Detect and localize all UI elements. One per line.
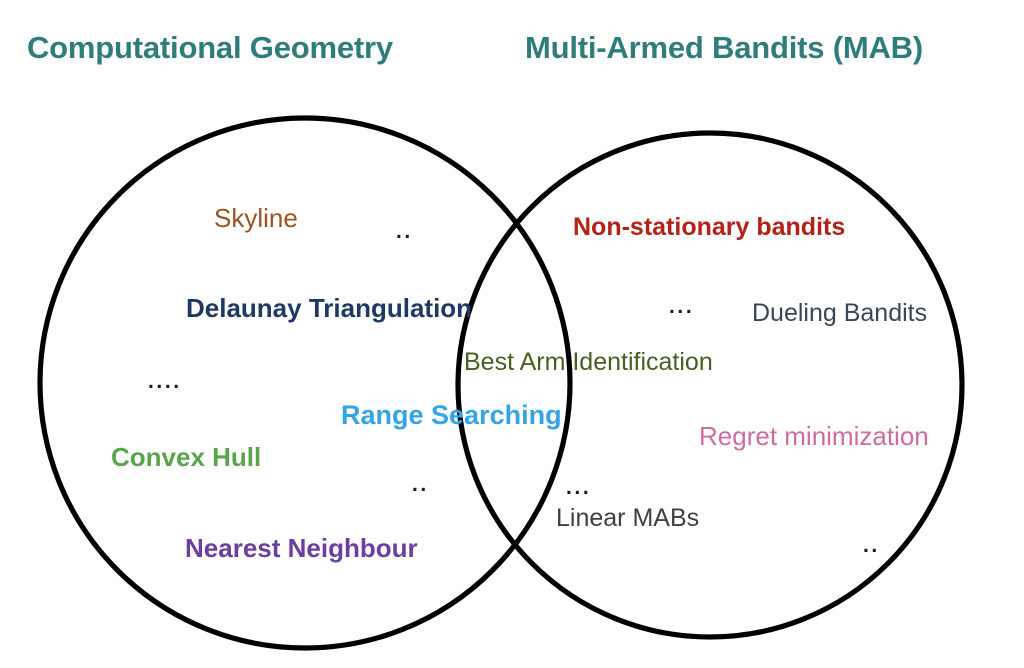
venn-circles [0,0,1024,668]
term-label: Range Searching [341,402,562,429]
left-circle-computational-geometry [40,118,570,648]
ellipsis-mark: .... [148,371,182,392]
ellipsis-mark: .. [412,474,429,495]
right-circle-multi-armed-bandits [458,133,962,637]
ellipsis-mark: .. [396,221,413,242]
term-label: Convex Hull [111,444,261,470]
term-label: Linear MABs [556,506,699,531]
term-label: Non-stationary bandits [573,215,845,240]
ellipsis-mark: .. [863,535,880,556]
term-label: Dueling Bandits [752,301,927,326]
term-label: Skyline [214,205,298,231]
ellipsis-mark: ... [566,477,591,498]
ellipsis-mark: ... [669,296,694,317]
venn-diagram-page: Computational Geometry Multi-Armed Bandi… [0,0,1024,668]
term-label: Delaunay Triangulation [186,295,472,321]
term-label: Best Arm Identification [464,350,713,375]
term-label: Regret minimization [699,423,929,449]
term-label: Nearest Neighbour [185,535,418,561]
